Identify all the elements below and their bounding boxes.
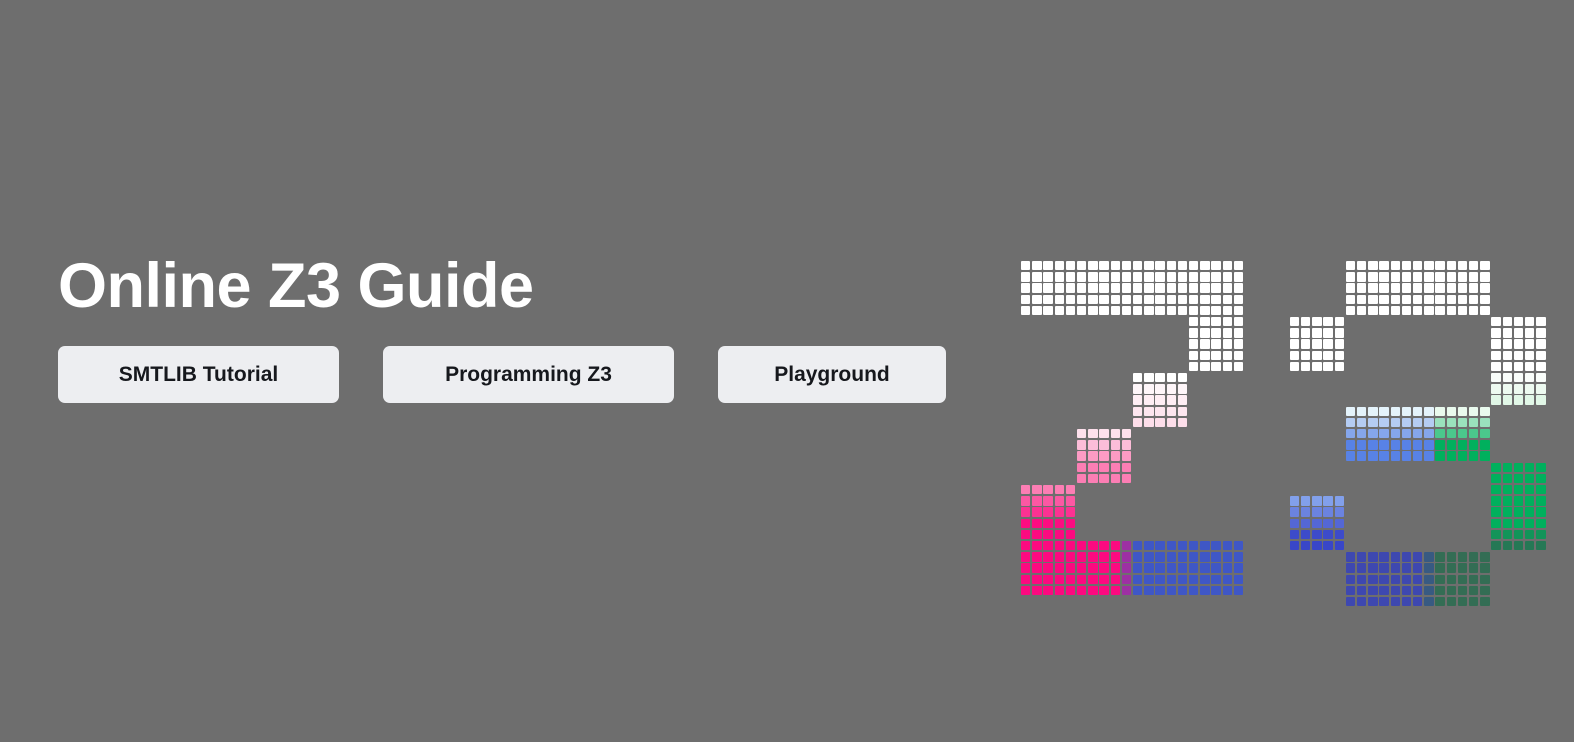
logo-pixel	[1536, 519, 1545, 528]
logo-pixel	[1413, 597, 1422, 606]
logo-pixel	[1088, 429, 1097, 438]
logo-pixel	[1480, 261, 1489, 270]
logo-pixel	[1357, 451, 1366, 460]
logo-pixel	[1021, 306, 1030, 315]
logo-pixel	[1144, 575, 1153, 584]
logo-pixel	[1323, 317, 1332, 326]
logo-pixel	[1379, 563, 1388, 572]
logo-pixel	[1402, 597, 1411, 606]
logo-pixel	[1043, 496, 1052, 505]
logo-pixel	[1469, 563, 1478, 572]
logo-pixel	[1043, 530, 1052, 539]
logo-pixel	[1111, 552, 1120, 561]
logo-pixel	[1536, 463, 1545, 472]
logo-pixel	[1402, 295, 1411, 304]
logo-pixel	[1312, 496, 1321, 505]
logo-pixel	[1223, 261, 1232, 270]
logo-pixel	[1144, 261, 1153, 270]
logo-pixel	[1435, 261, 1444, 270]
logo-pixel	[1055, 519, 1064, 528]
logo-pixel	[1424, 586, 1433, 595]
logo-pixel	[1368, 429, 1377, 438]
playground-button[interactable]: Playground	[718, 346, 946, 403]
logo-pixel	[1447, 418, 1456, 427]
logo-pixel	[1480, 597, 1489, 606]
logo-pixel	[1503, 507, 1512, 516]
logo-pixel	[1066, 306, 1075, 315]
logo-pixel	[1234, 261, 1243, 270]
logo-pixel	[1099, 575, 1108, 584]
logo-pixel	[1368, 261, 1377, 270]
logo-pixel	[1323, 328, 1332, 337]
logo-pixel	[1167, 586, 1176, 595]
logo-pixel	[1111, 586, 1120, 595]
logo-pixel	[1178, 407, 1187, 416]
logo-pixel	[1043, 272, 1052, 281]
logo-pixel	[1402, 306, 1411, 315]
logo-pixel	[1435, 552, 1444, 561]
logo-pixel	[1099, 295, 1108, 304]
logo-pixel	[1402, 586, 1411, 595]
logo-pixel	[1368, 575, 1377, 584]
logo-pixel	[1503, 395, 1512, 404]
logo-pixel	[1413, 575, 1422, 584]
logo-pixel	[1032, 541, 1041, 550]
logo-pixel	[1391, 440, 1400, 449]
logo-pixel	[1379, 586, 1388, 595]
logo-pixel	[1043, 552, 1052, 561]
logo-pixel	[1032, 530, 1041, 539]
logo-pixel	[1066, 507, 1075, 516]
logo-pixel	[1536, 317, 1545, 326]
logo-pixel	[1335, 507, 1344, 516]
logo-pixel	[1234, 586, 1243, 595]
logo-pixel	[1469, 306, 1478, 315]
logo-pixel	[1514, 328, 1523, 337]
programming-z3-button[interactable]: Programming Z3	[383, 346, 674, 403]
logo-pixel	[1447, 563, 1456, 572]
logo-pixel	[1525, 384, 1534, 393]
logo-pixel	[1290, 541, 1299, 550]
logo-pixel	[1424, 563, 1433, 572]
logo-pixel	[1144, 283, 1153, 292]
logo-pixel	[1503, 463, 1512, 472]
logo-pixel	[1021, 563, 1030, 572]
logo-pixel	[1514, 463, 1523, 472]
logo-pixel	[1469, 440, 1478, 449]
logo-pixel	[1458, 440, 1467, 449]
logo-pixel	[1346, 597, 1355, 606]
logo-pixel	[1178, 586, 1187, 595]
logo-pixel	[1357, 283, 1366, 292]
logo-pixel	[1469, 451, 1478, 460]
logo-pixel	[1447, 597, 1456, 606]
logo-pixel	[1536, 474, 1545, 483]
logo-pixel	[1379, 451, 1388, 460]
logo-pixel	[1088, 451, 1097, 460]
logo-pixel	[1447, 407, 1456, 416]
logo-pixel	[1155, 261, 1164, 270]
logo-pixel	[1178, 384, 1187, 393]
logo-pixel	[1155, 306, 1164, 315]
logo-pixel	[1122, 563, 1131, 572]
logo-pixel	[1514, 351, 1523, 360]
logo-pixel	[1357, 272, 1366, 281]
logo-pixel	[1480, 429, 1489, 438]
logo-pixel	[1469, 295, 1478, 304]
z3-pixel-logo-icon	[1021, 261, 1521, 591]
logo-pixel	[1312, 362, 1321, 371]
logo-pixel	[1021, 283, 1030, 292]
logo-pixel	[1133, 295, 1142, 304]
logo-pixel	[1323, 519, 1332, 528]
logo-pixel	[1178, 295, 1187, 304]
logo-pixel	[1368, 586, 1377, 595]
logo-pixel	[1111, 575, 1120, 584]
logo-pixel	[1155, 575, 1164, 584]
logo-pixel	[1525, 474, 1534, 483]
logo-pixel	[1480, 451, 1489, 460]
logo-pixel	[1312, 328, 1321, 337]
logo-pixel	[1055, 283, 1064, 292]
logo-pixel	[1088, 586, 1097, 595]
logo-pixel	[1435, 597, 1444, 606]
logo-pixel	[1402, 261, 1411, 270]
logo-pixel	[1424, 306, 1433, 315]
logo-pixel	[1133, 563, 1142, 572]
logo-pixel	[1447, 283, 1456, 292]
logo-pixel	[1144, 272, 1153, 281]
logo-pixel	[1357, 418, 1366, 427]
logo-pixel	[1111, 283, 1120, 292]
logo-pixel	[1021, 541, 1030, 550]
hero-text-block: Online Z3 Guide SMTLIB Tutorial Programm…	[58, 255, 958, 403]
logo-pixel	[1122, 586, 1131, 595]
logo-pixel	[1189, 283, 1198, 292]
logo-pixel	[1346, 407, 1355, 416]
logo-pixel	[1189, 306, 1198, 315]
logo-pixel	[1514, 373, 1523, 382]
logo-pixel	[1301, 351, 1310, 360]
logo-pixel	[1335, 496, 1344, 505]
logo-pixel	[1346, 575, 1355, 584]
logo-pixel	[1424, 440, 1433, 449]
logo-pixel	[1525, 530, 1534, 539]
logo-pixel	[1491, 541, 1500, 550]
logo-pixel	[1211, 351, 1220, 360]
logo-pixel	[1536, 339, 1545, 348]
logo-pixel	[1391, 575, 1400, 584]
logo-pixel	[1032, 552, 1041, 561]
logo-pixel	[1088, 575, 1097, 584]
logo-pixel	[1402, 563, 1411, 572]
logo-pixel	[1458, 283, 1467, 292]
logo-pixel	[1379, 306, 1388, 315]
logo-pixel	[1379, 261, 1388, 270]
logo-pixel	[1391, 563, 1400, 572]
logo-pixel	[1088, 541, 1097, 550]
logo-pixel	[1301, 317, 1310, 326]
logo-pixel	[1413, 272, 1422, 281]
logo-pixel	[1525, 507, 1534, 516]
logo-pixel	[1447, 586, 1456, 595]
logo-pixel	[1368, 451, 1377, 460]
logo-pixel	[1189, 563, 1198, 572]
logo-pixel	[1346, 272, 1355, 281]
logo-pixel	[1189, 362, 1198, 371]
logo-pixel	[1167, 552, 1176, 561]
logo-pixel	[1223, 552, 1232, 561]
logo-pixel	[1413, 306, 1422, 315]
logo-pixel	[1379, 283, 1388, 292]
logo-pixel	[1402, 418, 1411, 427]
logo-pixel	[1144, 295, 1153, 304]
logo-pixel	[1368, 272, 1377, 281]
hero-section: Online Z3 Guide SMTLIB Tutorial Programm…	[0, 0, 1574, 742]
logo-pixel	[1413, 407, 1422, 416]
logo-pixel	[1234, 328, 1243, 337]
logo-pixel	[1200, 295, 1209, 304]
logo-pixel	[1167, 541, 1176, 550]
logo-pixel	[1043, 519, 1052, 528]
logo-pixel	[1536, 507, 1545, 516]
logo-pixel	[1491, 463, 1500, 472]
logo-pixel	[1290, 362, 1299, 371]
logo-pixel	[1021, 295, 1030, 304]
logo-pixel	[1491, 328, 1500, 337]
logo-pixel	[1099, 586, 1108, 595]
logo-pixel	[1189, 261, 1198, 270]
logo-pixel	[1458, 272, 1467, 281]
logo-pixel	[1223, 283, 1232, 292]
logo-pixel	[1514, 384, 1523, 393]
logo-pixel	[1167, 261, 1176, 270]
logo-pixel	[1391, 283, 1400, 292]
logo-pixel	[1155, 395, 1164, 404]
logo-pixel	[1503, 541, 1512, 550]
logo-pixel	[1424, 597, 1433, 606]
logo-pixel	[1357, 563, 1366, 572]
logo-pixel	[1536, 351, 1545, 360]
logo-pixel	[1133, 541, 1142, 550]
logo-pixel	[1167, 272, 1176, 281]
logo-pixel	[1525, 351, 1534, 360]
logo-pixel	[1122, 295, 1131, 304]
logo-pixel	[1021, 519, 1030, 528]
logo-pixel	[1077, 474, 1086, 483]
logo-pixel	[1077, 552, 1086, 561]
logo-pixel	[1458, 418, 1467, 427]
logo-pixel	[1491, 395, 1500, 404]
logo-pixel	[1178, 541, 1187, 550]
logo-pixel	[1099, 272, 1108, 281]
logo-pixel	[1413, 418, 1422, 427]
logo-pixel	[1402, 552, 1411, 561]
logo-pixel	[1503, 530, 1512, 539]
logo-pixel	[1055, 496, 1064, 505]
logo-pixel	[1088, 440, 1097, 449]
logo-pixel	[1055, 552, 1064, 561]
logo-pixel	[1200, 317, 1209, 326]
logo-pixel	[1391, 261, 1400, 270]
logo-pixel	[1144, 384, 1153, 393]
logo-pixel	[1536, 362, 1545, 371]
logo-pixel	[1111, 272, 1120, 281]
logo-pixel	[1301, 339, 1310, 348]
logo-pixel	[1211, 283, 1220, 292]
logo-pixel	[1055, 295, 1064, 304]
logo-pixel	[1234, 295, 1243, 304]
logo-pixel	[1066, 563, 1075, 572]
logo-pixel	[1189, 295, 1198, 304]
logo-pixel	[1055, 306, 1064, 315]
logo-pixel	[1391, 597, 1400, 606]
logo-pixel	[1335, 339, 1344, 348]
logo-pixel	[1223, 563, 1232, 572]
logo-pixel	[1077, 429, 1086, 438]
logo-pixel	[1458, 429, 1467, 438]
logo-pixel	[1167, 373, 1176, 382]
logo-pixel	[1133, 586, 1142, 595]
logo-pixel	[1155, 407, 1164, 416]
logo-pixel	[1211, 362, 1220, 371]
logo-pixel	[1122, 261, 1131, 270]
logo-pixel	[1447, 575, 1456, 584]
logo-pixel	[1447, 306, 1456, 315]
logo-pixel	[1525, 362, 1534, 371]
logo-pixel	[1402, 272, 1411, 281]
logo-pixel	[1099, 463, 1108, 472]
logo-pixel	[1223, 272, 1232, 281]
logo-pixel	[1525, 496, 1534, 505]
logo-pixel	[1144, 395, 1153, 404]
logo-pixel	[1368, 418, 1377, 427]
logo-pixel	[1413, 261, 1422, 270]
logo-pixel	[1077, 541, 1086, 550]
logo-pixel	[1178, 373, 1187, 382]
logo-pixel	[1032, 496, 1041, 505]
logo-pixel	[1077, 272, 1086, 281]
logo-pixel	[1133, 575, 1142, 584]
logo-pixel	[1357, 295, 1366, 304]
logo-pixel	[1055, 541, 1064, 550]
logo-pixel	[1155, 384, 1164, 393]
logo-pixel	[1514, 339, 1523, 348]
logo-pixel	[1133, 373, 1142, 382]
logo-pixel	[1088, 463, 1097, 472]
logo-pixel	[1133, 306, 1142, 315]
logo-pixel	[1323, 362, 1332, 371]
logo-pixel	[1088, 272, 1097, 281]
logo-pixel	[1223, 541, 1232, 550]
logo-pixel	[1122, 306, 1131, 315]
logo-pixel	[1323, 541, 1332, 550]
logo-pixel	[1514, 530, 1523, 539]
logo-pixel	[1503, 485, 1512, 494]
logo-pixel	[1480, 272, 1489, 281]
logo-pixel	[1133, 272, 1142, 281]
logo-pixel	[1368, 440, 1377, 449]
logo-pixel	[1469, 407, 1478, 416]
logo-pixel	[1525, 317, 1534, 326]
logo-pixel	[1021, 485, 1030, 494]
logo-pixel	[1055, 261, 1064, 270]
logo-pixel	[1357, 440, 1366, 449]
logo-pixel	[1503, 339, 1512, 348]
logo-pixel	[1155, 272, 1164, 281]
logo-pixel	[1144, 373, 1153, 382]
logo-pixel	[1077, 261, 1086, 270]
logo-pixel	[1234, 362, 1243, 371]
logo-pixel	[1122, 463, 1131, 472]
logo-pixel	[1469, 429, 1478, 438]
logo-pixel	[1435, 306, 1444, 315]
logo-pixel	[1368, 283, 1377, 292]
logo-pixel	[1133, 418, 1142, 427]
logo-pixel	[1525, 463, 1534, 472]
logo-pixel	[1346, 295, 1355, 304]
logo-pixel	[1111, 563, 1120, 572]
logo-pixel	[1379, 418, 1388, 427]
logo-pixel	[1301, 362, 1310, 371]
logo-pixel	[1480, 407, 1489, 416]
logo-pixel	[1335, 328, 1344, 337]
logo-pixel	[1077, 563, 1086, 572]
logo-pixel	[1447, 295, 1456, 304]
logo-pixel	[1043, 507, 1052, 516]
logo-pixel	[1066, 261, 1075, 270]
logo-pixel	[1122, 575, 1131, 584]
logo-pixel	[1357, 261, 1366, 270]
logo-pixel	[1111, 541, 1120, 550]
logo-pixel	[1491, 474, 1500, 483]
logo-pixel	[1099, 283, 1108, 292]
logo-pixel	[1200, 339, 1209, 348]
logo-pixel	[1346, 283, 1355, 292]
logo-pixel	[1167, 306, 1176, 315]
logo-pixel	[1043, 586, 1052, 595]
logo-pixel	[1200, 328, 1209, 337]
logo-pixel	[1491, 362, 1500, 371]
logo-pixel	[1469, 261, 1478, 270]
logo-pixel	[1368, 597, 1377, 606]
logo-pixel	[1458, 575, 1467, 584]
logo-pixel	[1435, 418, 1444, 427]
logo-pixel	[1155, 283, 1164, 292]
logo-pixel	[1402, 440, 1411, 449]
smtlib-tutorial-button[interactable]: SMTLIB Tutorial	[58, 346, 339, 403]
logo-pixel	[1301, 328, 1310, 337]
logo-pixel	[1021, 496, 1030, 505]
logo-pixel	[1223, 328, 1232, 337]
logo-pixel	[1043, 295, 1052, 304]
logo-pixel	[1469, 272, 1478, 281]
logo-pixel	[1469, 575, 1478, 584]
logo-pixel	[1021, 261, 1030, 270]
logo-pixel	[1391, 306, 1400, 315]
logo-pixel	[1055, 575, 1064, 584]
logo-pixel	[1211, 586, 1220, 595]
logo-pixel	[1200, 306, 1209, 315]
logo-pixel	[1379, 597, 1388, 606]
logo-pixel	[1223, 362, 1232, 371]
logo-pixel	[1200, 563, 1209, 572]
logo-pixel	[1144, 306, 1153, 315]
page-title: Online Z3 Guide	[58, 255, 958, 318]
logo-pixel	[1066, 586, 1075, 595]
logo-pixel	[1290, 351, 1299, 360]
logo-pixel	[1391, 295, 1400, 304]
